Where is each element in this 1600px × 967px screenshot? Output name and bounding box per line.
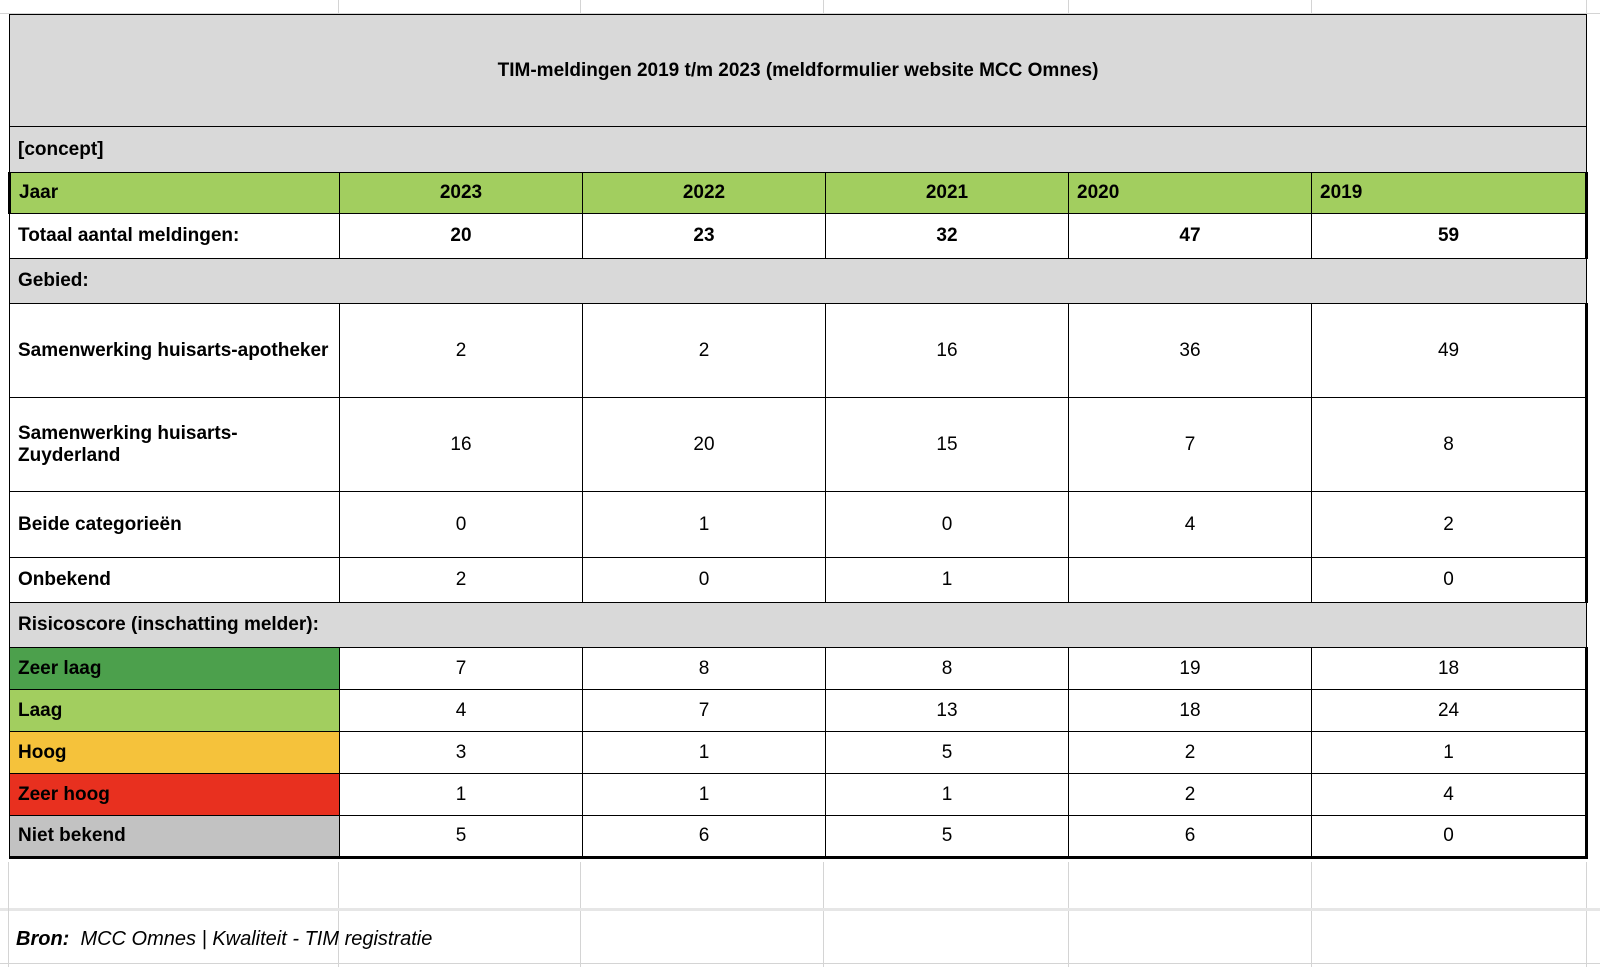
total-value-2022: 23: [583, 214, 826, 259]
table-row: Samenwerking huisarts-Zuyderland 16 20 1…: [10, 398, 1587, 492]
cell-hoog-2019: 1: [1312, 732, 1587, 774]
row-label-samenwerking-huisarts-zuyderland: Samenwerking huisarts-Zuyderland: [10, 398, 340, 492]
sheet-gridline: [1586, 0, 1587, 14]
header-year-2020: 2020: [1069, 173, 1312, 214]
total-row: Totaal aantal meldingen: 20 23 32 47 59: [10, 214, 1587, 259]
header-year-2022: 2022: [583, 173, 826, 214]
sheet-gridline: [1068, 0, 1069, 14]
cell-zeerlaag-2021: 8: [826, 648, 1069, 690]
sheet-gridline: [580, 862, 581, 967]
table-row: Laag 4 7 13 18 24: [10, 690, 1587, 732]
header-label-jaar: Jaar: [10, 173, 340, 214]
cell-laag-2019: 24: [1312, 690, 1587, 732]
total-value-2023: 20: [340, 214, 583, 259]
total-value-2021: 32: [826, 214, 1069, 259]
risk-label-laag: Laag: [10, 690, 340, 732]
cell-hoog-2022: 1: [583, 732, 826, 774]
section-heading-risicoscore: Risicoscore (inschatting melder):: [10, 603, 1587, 648]
cell-laag-2021: 13: [826, 690, 1069, 732]
cell-hoog-2023: 3: [340, 732, 583, 774]
cell-nietbekend-2020: 6: [1069, 816, 1312, 858]
cell-apotheker-2020: 36: [1069, 304, 1312, 398]
cell-nietbekend-2021: 5: [826, 816, 1069, 858]
cell-zuyderland-2022: 20: [583, 398, 826, 492]
header-year-2021: 2021: [826, 173, 1069, 214]
risk-label-niet-bekend: Niet bekend: [10, 816, 340, 858]
cell-zeerlaag-2022: 8: [583, 648, 826, 690]
cell-apotheker-2022: 2: [583, 304, 826, 398]
cell-zeerhoog-2021: 1: [826, 774, 1069, 816]
cell-zuyderland-2020: 7: [1069, 398, 1312, 492]
total-value-2020: 47: [1069, 214, 1312, 259]
table-row: Samenwerking huisarts-apotheker 2 2 16 3…: [10, 304, 1587, 398]
cell-zeerlaag-2020: 19: [1069, 648, 1312, 690]
row-label-samenwerking-huisarts-apotheker: Samenwerking huisarts-apotheker: [10, 304, 340, 398]
cell-zeerhoog-2022: 1: [583, 774, 826, 816]
cell-zeerlaag-2019: 18: [1312, 648, 1587, 690]
cell-zuyderland-2019: 8: [1312, 398, 1587, 492]
header-year-2023: 2023: [340, 173, 583, 214]
cell-apotheker-2019: 49: [1312, 304, 1587, 398]
cell-zeerlaag-2023: 7: [340, 648, 583, 690]
cell-nietbekend-2019: 0: [1312, 816, 1587, 858]
sheet-gridline: [338, 0, 339, 14]
risk-label-hoog: Hoog: [10, 732, 340, 774]
table-row: Zeer hoog 1 1 1 2 4: [10, 774, 1587, 816]
cell-onbekend-2022: 0: [583, 558, 826, 603]
sheet-gridline: [338, 862, 339, 967]
source-value: MCC Omnes | Kwaliteit - TIM registratie: [80, 928, 432, 950]
cell-zeerhoog-2023: 1: [340, 774, 583, 816]
total-label: Totaal aantal meldingen:: [10, 214, 340, 259]
section-heading-row-gebied: Gebied:: [10, 259, 1587, 304]
source-footer: Bron: MCC Omnes | Kwaliteit - TIM regist…: [16, 928, 432, 951]
row-label-beide-categorieen: Beide categorieën: [10, 492, 340, 558]
risk-label-zeer-hoog: Zeer hoog: [10, 774, 340, 816]
cell-nietbekend-2022: 6: [583, 816, 826, 858]
title-row: TIM-meldingen 2019 t/m 2023 (meldformuli…: [10, 15, 1587, 127]
sheet-gridline: [1311, 862, 1312, 967]
tim-report-table: TIM-meldingen 2019 t/m 2023 (meldformuli…: [8, 14, 1588, 859]
page-title: TIM-meldingen 2019 t/m 2023 (meldformuli…: [10, 15, 1587, 127]
cell-onbekend-2021: 1: [826, 558, 1069, 603]
sheet-gridline: [1586, 862, 1587, 967]
cell-onbekend-2020: [1069, 558, 1312, 603]
section-heading-gebied: Gebied:: [10, 259, 1587, 304]
cell-laag-2022: 7: [583, 690, 826, 732]
row-label-onbekend: Onbekend: [10, 558, 340, 603]
table-row: Onbekend 2 0 1 0: [10, 558, 1587, 603]
cell-beide-2021: 0: [826, 492, 1069, 558]
table-row: Hoog 3 1 5 2 1: [10, 732, 1587, 774]
sheet-gridline: [823, 0, 824, 14]
cell-onbekend-2019: 0: [1312, 558, 1587, 603]
sheet-gridline: [8, 862, 9, 967]
sheet-gridline: [0, 963, 1600, 964]
total-value-2019: 59: [1312, 214, 1587, 259]
section-heading-row-risicoscore: Risicoscore (inschatting melder):: [10, 603, 1587, 648]
cell-laag-2020: 18: [1069, 690, 1312, 732]
sheet-gridline: [1311, 0, 1312, 14]
cell-zeerhoog-2020: 2: [1069, 774, 1312, 816]
sheet-gridline: [1068, 862, 1069, 967]
cell-beide-2023: 0: [340, 492, 583, 558]
concept-badge: [concept]: [10, 127, 1587, 173]
table-row: Zeer laag 7 8 8 19 18: [10, 648, 1587, 690]
source-label: Bron:: [16, 928, 69, 950]
spreadsheet-canvas: TIM-meldingen 2019 t/m 2023 (meldformuli…: [0, 0, 1600, 967]
cell-beide-2019: 2: [1312, 492, 1587, 558]
cell-zuyderland-2021: 15: [826, 398, 1069, 492]
cell-zeerhoog-2019: 4: [1312, 774, 1587, 816]
table-row: Beide categorieën 0 1 0 4 2: [10, 492, 1587, 558]
concept-row: [concept]: [10, 127, 1587, 173]
cell-apotheker-2021: 16: [826, 304, 1069, 398]
header-year-2019: 2019: [1312, 173, 1587, 214]
year-header-row: Jaar 2023 2022 2021 2020 2019: [10, 173, 1587, 214]
sheet-gridline: [823, 862, 824, 967]
cell-hoog-2021: 5: [826, 732, 1069, 774]
cell-hoog-2020: 2: [1069, 732, 1312, 774]
risk-label-zeer-laag: Zeer laag: [10, 648, 340, 690]
cell-laag-2023: 4: [340, 690, 583, 732]
cell-beide-2022: 1: [583, 492, 826, 558]
table-row: Niet bekend 5 6 5 6 0: [10, 816, 1587, 858]
cell-zuyderland-2023: 16: [340, 398, 583, 492]
cell-onbekend-2023: 2: [340, 558, 583, 603]
cell-nietbekend-2023: 5: [340, 816, 583, 858]
sheet-gridline: [580, 0, 581, 14]
sheet-gridline: [0, 908, 1600, 911]
cell-beide-2020: 4: [1069, 492, 1312, 558]
cell-apotheker-2023: 2: [340, 304, 583, 398]
